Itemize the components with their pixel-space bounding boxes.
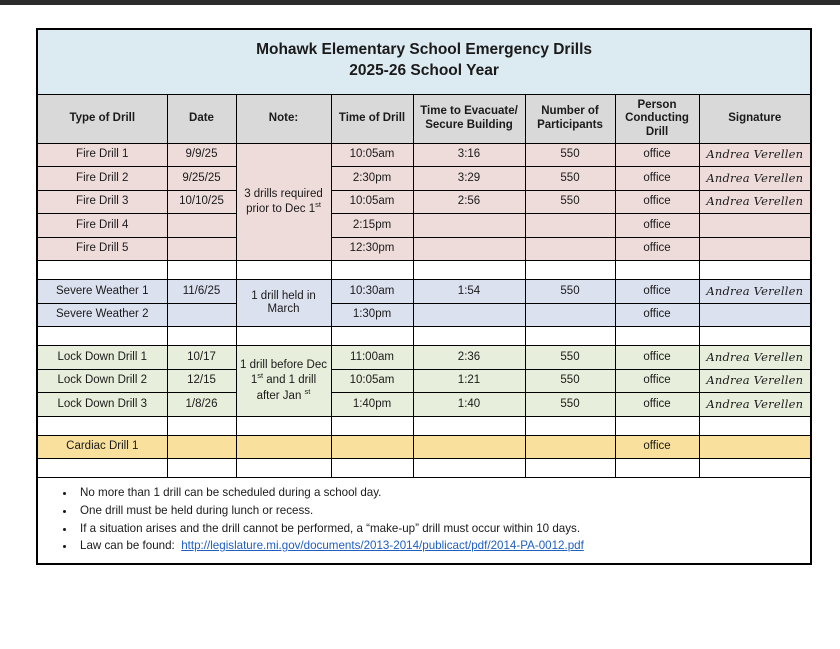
footnotes-row: No more than 1 drill can be scheduled du…: [37, 478, 811, 564]
spacer-cell: [37, 416, 167, 435]
cell-person-conducting[interactable]: office: [615, 346, 699, 370]
cell-date[interactable]: 10/10/25: [167, 190, 236, 214]
empty-row[interactable]: [37, 459, 811, 478]
cell-time-to-evacuate[interactable]: [413, 435, 525, 459]
cell-type-of-drill: Fire Drill 1: [37, 143, 167, 167]
cell-date[interactable]: [167, 435, 236, 459]
cell-time-of-drill[interactable]: 10:30am: [331, 280, 413, 304]
column-header-type-of-drill: Type of Drill: [37, 94, 167, 143]
cell-note: [236, 435, 331, 459]
cell-type-of-drill: Fire Drill 3: [37, 190, 167, 214]
table-row[interactable]: Fire Drill 3 10/10/25 10:05am 2:56 550 o…: [37, 190, 811, 214]
cell-time-of-drill[interactable]: 10:05am: [331, 190, 413, 214]
table-row[interactable]: Lock Down Drill 1 10/17 1 drill before D…: [37, 346, 811, 370]
spacer-cell: [615, 261, 699, 280]
cell-type-of-drill: Lock Down Drill 3: [37, 393, 167, 417]
empty-cell[interactable]: [236, 459, 331, 478]
cell-time-of-drill[interactable]: 10:05am: [331, 369, 413, 393]
footnotes-list: No more than 1 drill can be scheduled du…: [38, 484, 810, 554]
cell-person-conducting[interactable]: office: [615, 143, 699, 167]
footnote-item-1: No more than 1 drill can be scheduled du…: [76, 484, 810, 502]
cell-time-of-drill[interactable]: 11:00am: [331, 346, 413, 370]
cell-time-of-drill[interactable]: 2:30pm: [331, 167, 413, 191]
cell-type-of-drill: Fire Drill 2: [37, 167, 167, 191]
spacer-cell: [525, 416, 615, 435]
cell-person-conducting[interactable]: office: [615, 214, 699, 238]
spacer-cell: [525, 261, 615, 280]
spacer-cell: [699, 327, 811, 346]
cell-signature[interactable]: [699, 214, 811, 238]
cell-person-conducting[interactable]: office: [615, 167, 699, 191]
column-header-date: Date: [167, 94, 236, 143]
spacer-cell: [525, 327, 615, 346]
cell-signature[interactable]: Andrea Verellen: [699, 346, 811, 370]
cell-time-to-evacuate[interactable]: 2:56: [413, 190, 525, 214]
empty-cell[interactable]: [699, 459, 811, 478]
document-title: Mohawk Elementary School Emergency Drill…: [38, 30, 810, 94]
cell-date[interactable]: 9/25/25: [167, 167, 236, 191]
spacer-cell: [699, 416, 811, 435]
cell-person-conducting[interactable]: office: [615, 303, 699, 327]
cell-signature[interactable]: Andrea Verellen: [699, 143, 811, 167]
spacer-row: [37, 261, 811, 280]
cell-person-conducting[interactable]: office: [615, 237, 699, 261]
cell-note-lockdown: 1 drill before Dec 1st and 1 drill after…: [236, 346, 331, 417]
cell-time-of-drill[interactable]: 2:15pm: [331, 214, 413, 238]
title-line-1: Mohawk Elementary School Emergency Drill…: [42, 40, 806, 61]
cell-time-to-evacuate[interactable]: [413, 214, 525, 238]
cell-number-of-participants[interactable]: [525, 214, 615, 238]
cell-note-fire: 3 drills required prior to Dec 1st: [236, 143, 331, 261]
cell-number-of-participants[interactable]: 550: [525, 190, 615, 214]
cell-type-of-drill: Fire Drill 4: [37, 214, 167, 238]
table-row[interactable]: Lock Down Drill 3 1/8/26 1:40pm 1:40 550…: [37, 393, 811, 417]
cell-number-of-participants[interactable]: [525, 237, 615, 261]
title-row: Mohawk Elementary School Emergency Drill…: [37, 29, 811, 94]
footnote-item-2: One drill must be held during lunch or r…: [76, 502, 810, 520]
spacer-cell: [167, 261, 236, 280]
cell-note-severe: 1 drill held in March: [236, 280, 331, 327]
cell-person-conducting[interactable]: office: [615, 280, 699, 304]
cell-time-to-evacuate[interactable]: [413, 237, 525, 261]
cell-date[interactable]: 11/6/25: [167, 280, 236, 304]
column-header-time-to-evacuate: Time to Evacuate/ Secure Building: [413, 94, 525, 143]
cell-date[interactable]: [167, 303, 236, 327]
column-header-number-of-participants: Number of Participants: [525, 94, 615, 143]
empty-cell[interactable]: [331, 459, 413, 478]
spacer-cell: [331, 261, 413, 280]
cell-time-of-drill[interactable]: 10:05am: [331, 143, 413, 167]
document-page: Mohawk Elementary School Emergency Drill…: [0, 5, 840, 649]
cell-type-of-drill: Cardiac Drill 1: [37, 435, 167, 459]
footnotes-cell: No more than 1 drill can be scheduled du…: [37, 478, 811, 564]
empty-cell[interactable]: [167, 459, 236, 478]
column-header-person-conducting-drill: Person Conducting Drill: [615, 94, 699, 143]
cell-number-of-participants[interactable]: 550: [525, 143, 615, 167]
spacer-cell: [236, 327, 331, 346]
cell-number-of-participants[interactable]: [525, 303, 615, 327]
cell-time-of-drill[interactable]: 1:30pm: [331, 303, 413, 327]
spacer-cell: [615, 327, 699, 346]
cell-number-of-participants[interactable]: 550: [525, 167, 615, 191]
emergency-drills-table: Mohawk Elementary School Emergency Drill…: [36, 28, 812, 565]
cell-time-to-evacuate[interactable]: 3:16: [413, 143, 525, 167]
spacer-row: [37, 327, 811, 346]
cell-signature[interactable]: Andrea Verellen: [699, 369, 811, 393]
cell-number-of-participants[interactable]: 550: [525, 280, 615, 304]
cell-date[interactable]: 10/17: [167, 346, 236, 370]
cell-time-to-evacuate[interactable]: 1:40: [413, 393, 525, 417]
cell-time-to-evacuate[interactable]: [413, 303, 525, 327]
title-line-2: 2025-26 School Year: [42, 61, 806, 82]
cell-signature[interactable]: [699, 435, 811, 459]
column-header-signature: Signature: [699, 94, 811, 143]
spacer-cell: [236, 261, 331, 280]
table-header-row: Type of Drill Date Note: Time of Drill T…: [37, 94, 811, 143]
cell-time-to-evacuate[interactable]: 1:54: [413, 280, 525, 304]
cell-type-of-drill: Lock Down Drill 2: [37, 369, 167, 393]
cell-signature[interactable]: Andrea Verellen: [699, 280, 811, 304]
spacer-cell: [331, 327, 413, 346]
law-label: Law can be found:: [80, 539, 175, 552]
empty-cell[interactable]: [525, 459, 615, 478]
cell-time-to-evacuate[interactable]: 1:21: [413, 369, 525, 393]
cell-date[interactable]: 12/15: [167, 369, 236, 393]
note-fire-text: 3 drills required prior to Dec 1: [244, 188, 323, 215]
footnote-item-4: Law can be found: http://legislature.mi.…: [76, 537, 810, 555]
spacer-cell: [167, 327, 236, 346]
footnote-item-3: If a situation arises and the drill cann…: [76, 520, 810, 538]
cell-time-of-drill[interactable]: 12:30pm: [331, 237, 413, 261]
cell-signature[interactable]: Andrea Verellen: [699, 167, 811, 191]
table-row[interactable]: Fire Drill 4 2:15pm office: [37, 214, 811, 238]
spacer-cell: [699, 261, 811, 280]
cell-type-of-drill: Severe Weather 1: [37, 280, 167, 304]
law-link[interactable]: http://legislature.mi.gov/documents/2013…: [181, 539, 584, 552]
cell-number-of-participants[interactable]: [525, 435, 615, 459]
note-lock-sup2: st: [305, 387, 311, 396]
note-fire-sup: st: [315, 200, 321, 209]
table-row[interactable]: Fire Drill 2 9/25/25 2:30pm 3:29 550 off…: [37, 167, 811, 191]
cell-type-of-drill: Fire Drill 5: [37, 237, 167, 261]
column-header-time-of-drill: Time of Drill: [331, 94, 413, 143]
cell-person-conducting[interactable]: office: [615, 393, 699, 417]
column-header-note: Note:: [236, 94, 331, 143]
cell-signature[interactable]: Andrea Verellen: [699, 190, 811, 214]
cell-date[interactable]: 1/8/26: [167, 393, 236, 417]
cell-person-conducting[interactable]: office: [615, 190, 699, 214]
cell-person-conducting[interactable]: office: [615, 369, 699, 393]
cell-time-to-evacuate[interactable]: 2:36: [413, 346, 525, 370]
spacer-cell: [236, 416, 331, 435]
spacer-cell: [413, 261, 525, 280]
table-row[interactable]: Severe Weather 1 11/6/25 1 drill held in…: [37, 280, 811, 304]
cell-number-of-participants[interactable]: 550: [525, 369, 615, 393]
table-row[interactable]: Cardiac Drill 1 office: [37, 435, 811, 459]
spacer-cell: [37, 261, 167, 280]
empty-cell[interactable]: [413, 459, 525, 478]
cell-date[interactable]: 9/9/25: [167, 143, 236, 167]
spacer-cell: [413, 327, 525, 346]
table-row[interactable]: Fire Drill 5 12:30pm office: [37, 237, 811, 261]
cell-type-of-drill: Severe Weather 2: [37, 303, 167, 327]
cell-signature[interactable]: Andrea Verellen: [699, 393, 811, 417]
spacer-cell: [331, 416, 413, 435]
cell-signature[interactable]: [699, 303, 811, 327]
spacer-row: [37, 416, 811, 435]
title-cell: Mohawk Elementary School Emergency Drill…: [37, 29, 811, 94]
cell-person-conducting[interactable]: office: [615, 435, 699, 459]
cell-time-of-drill[interactable]: [331, 435, 413, 459]
empty-cell[interactable]: [615, 459, 699, 478]
spacer-cell: [413, 416, 525, 435]
cell-number-of-participants[interactable]: 550: [525, 346, 615, 370]
cell-date[interactable]: [167, 237, 236, 261]
cell-type-of-drill: Lock Down Drill 1: [37, 346, 167, 370]
cell-time-to-evacuate[interactable]: 3:29: [413, 167, 525, 191]
spacer-cell: [615, 416, 699, 435]
cell-signature[interactable]: [699, 237, 811, 261]
cell-time-of-drill[interactable]: 1:40pm: [331, 393, 413, 417]
spacer-cell: [167, 416, 236, 435]
table-row[interactable]: Severe Weather 2 1:30pm office: [37, 303, 811, 327]
table-row[interactable]: Fire Drill 1 9/9/25 3 drills required pr…: [37, 143, 811, 167]
spacer-cell: [37, 327, 167, 346]
cell-number-of-participants[interactable]: 550: [525, 393, 615, 417]
table-row[interactable]: Lock Down Drill 2 12/15 10:05am 1:21 550…: [37, 369, 811, 393]
cell-date[interactable]: [167, 214, 236, 238]
empty-cell[interactable]: [37, 459, 167, 478]
